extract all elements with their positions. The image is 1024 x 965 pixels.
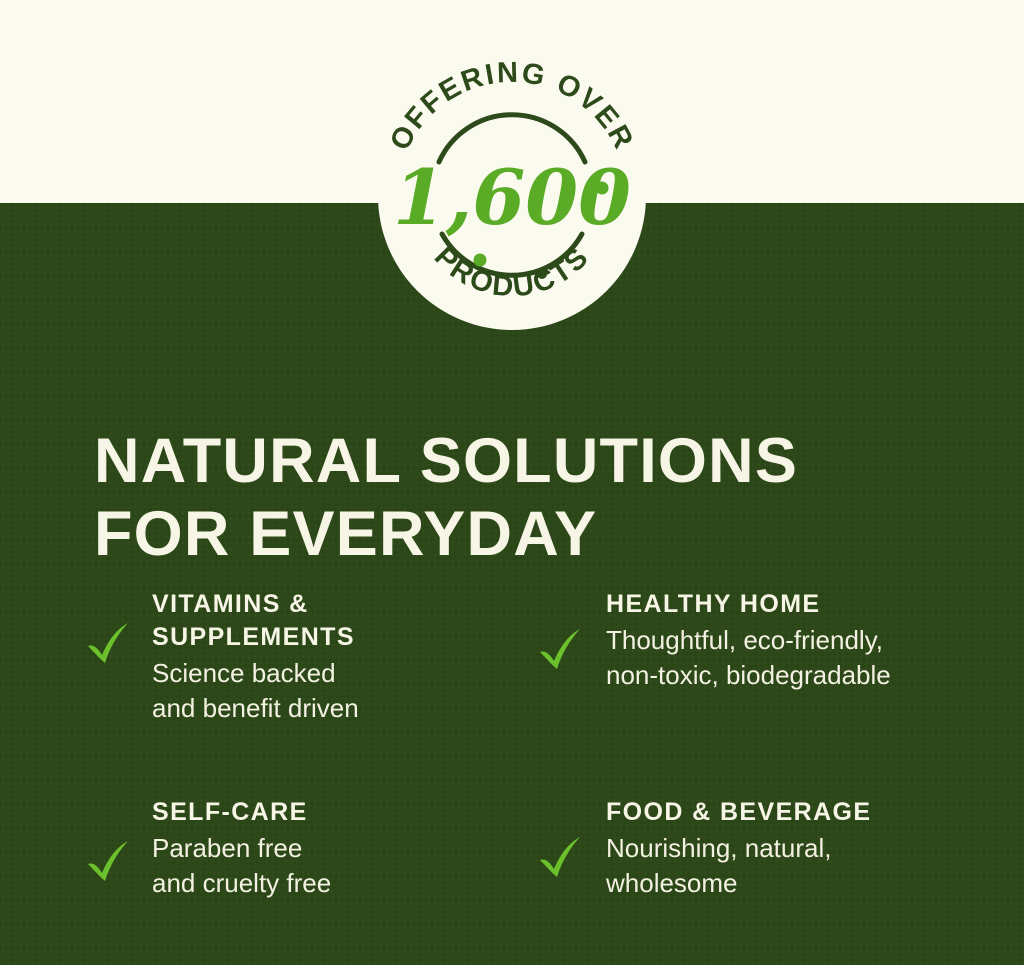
products-count-badge: OFFERING OVER PRODUCTS 1,600 (362, 46, 662, 346)
headline-line-1: NATURAL SOLUTIONS (94, 425, 974, 498)
badge-product-count: 1,600 (393, 153, 631, 242)
check-icon (86, 622, 140, 664)
badge-bottom-arc-label: PRODUCTS (428, 241, 596, 304)
feature-description: Thoughtful, eco-friendly, non-toxic, bio… (606, 623, 891, 693)
page-title: NATURAL SOLUTIONS FOR EVERYDAY (94, 425, 974, 571)
badge-top-arc-label: OFFERING OVER (384, 57, 640, 156)
feature-title: VITAMINS & SUPPLEMENTS (152, 588, 359, 654)
feature-item-food-beverage: FOOD & BEVERAGE Nourishing, natural, who… (538, 796, 986, 901)
feature-body: VITAMINS & SUPPLEMENTS Science backed an… (152, 588, 359, 726)
feature-item-vitamins-supplements: VITAMINS & SUPPLEMENTS Science backed an… (86, 588, 538, 788)
feature-body: SELF-CARE Paraben free and cruelty free (152, 796, 331, 901)
headline-line-2: FOR EVERYDAY (94, 498, 974, 571)
feature-grid: VITAMINS & SUPPLEMENTS Science backed an… (86, 588, 986, 901)
feature-description: Paraben free and cruelty free (152, 831, 331, 901)
check-icon (538, 628, 592, 670)
feature-title: SELF-CARE (152, 796, 331, 829)
feature-body: HEALTHY HOME Thoughtful, eco-friendly, n… (606, 588, 891, 693)
check-icon (86, 840, 140, 882)
feature-item-healthy-home: HEALTHY HOME Thoughtful, eco-friendly, n… (538, 588, 986, 788)
feature-body: FOOD & BEVERAGE Nourishing, natural, who… (606, 796, 871, 901)
feature-description: Science backed and benefit driven (152, 656, 359, 726)
promo-banner: OFFERING OVER PRODUCTS 1,600 NATURAL SOL… (0, 0, 1024, 965)
check-icon (538, 836, 592, 878)
feature-title: HEALTHY HOME (606, 588, 891, 621)
feature-description: Nourishing, natural, wholesome (606, 831, 871, 901)
feature-title: FOOD & BEVERAGE (606, 796, 871, 829)
feature-item-self-care: SELF-CARE Paraben free and cruelty free (86, 796, 538, 901)
